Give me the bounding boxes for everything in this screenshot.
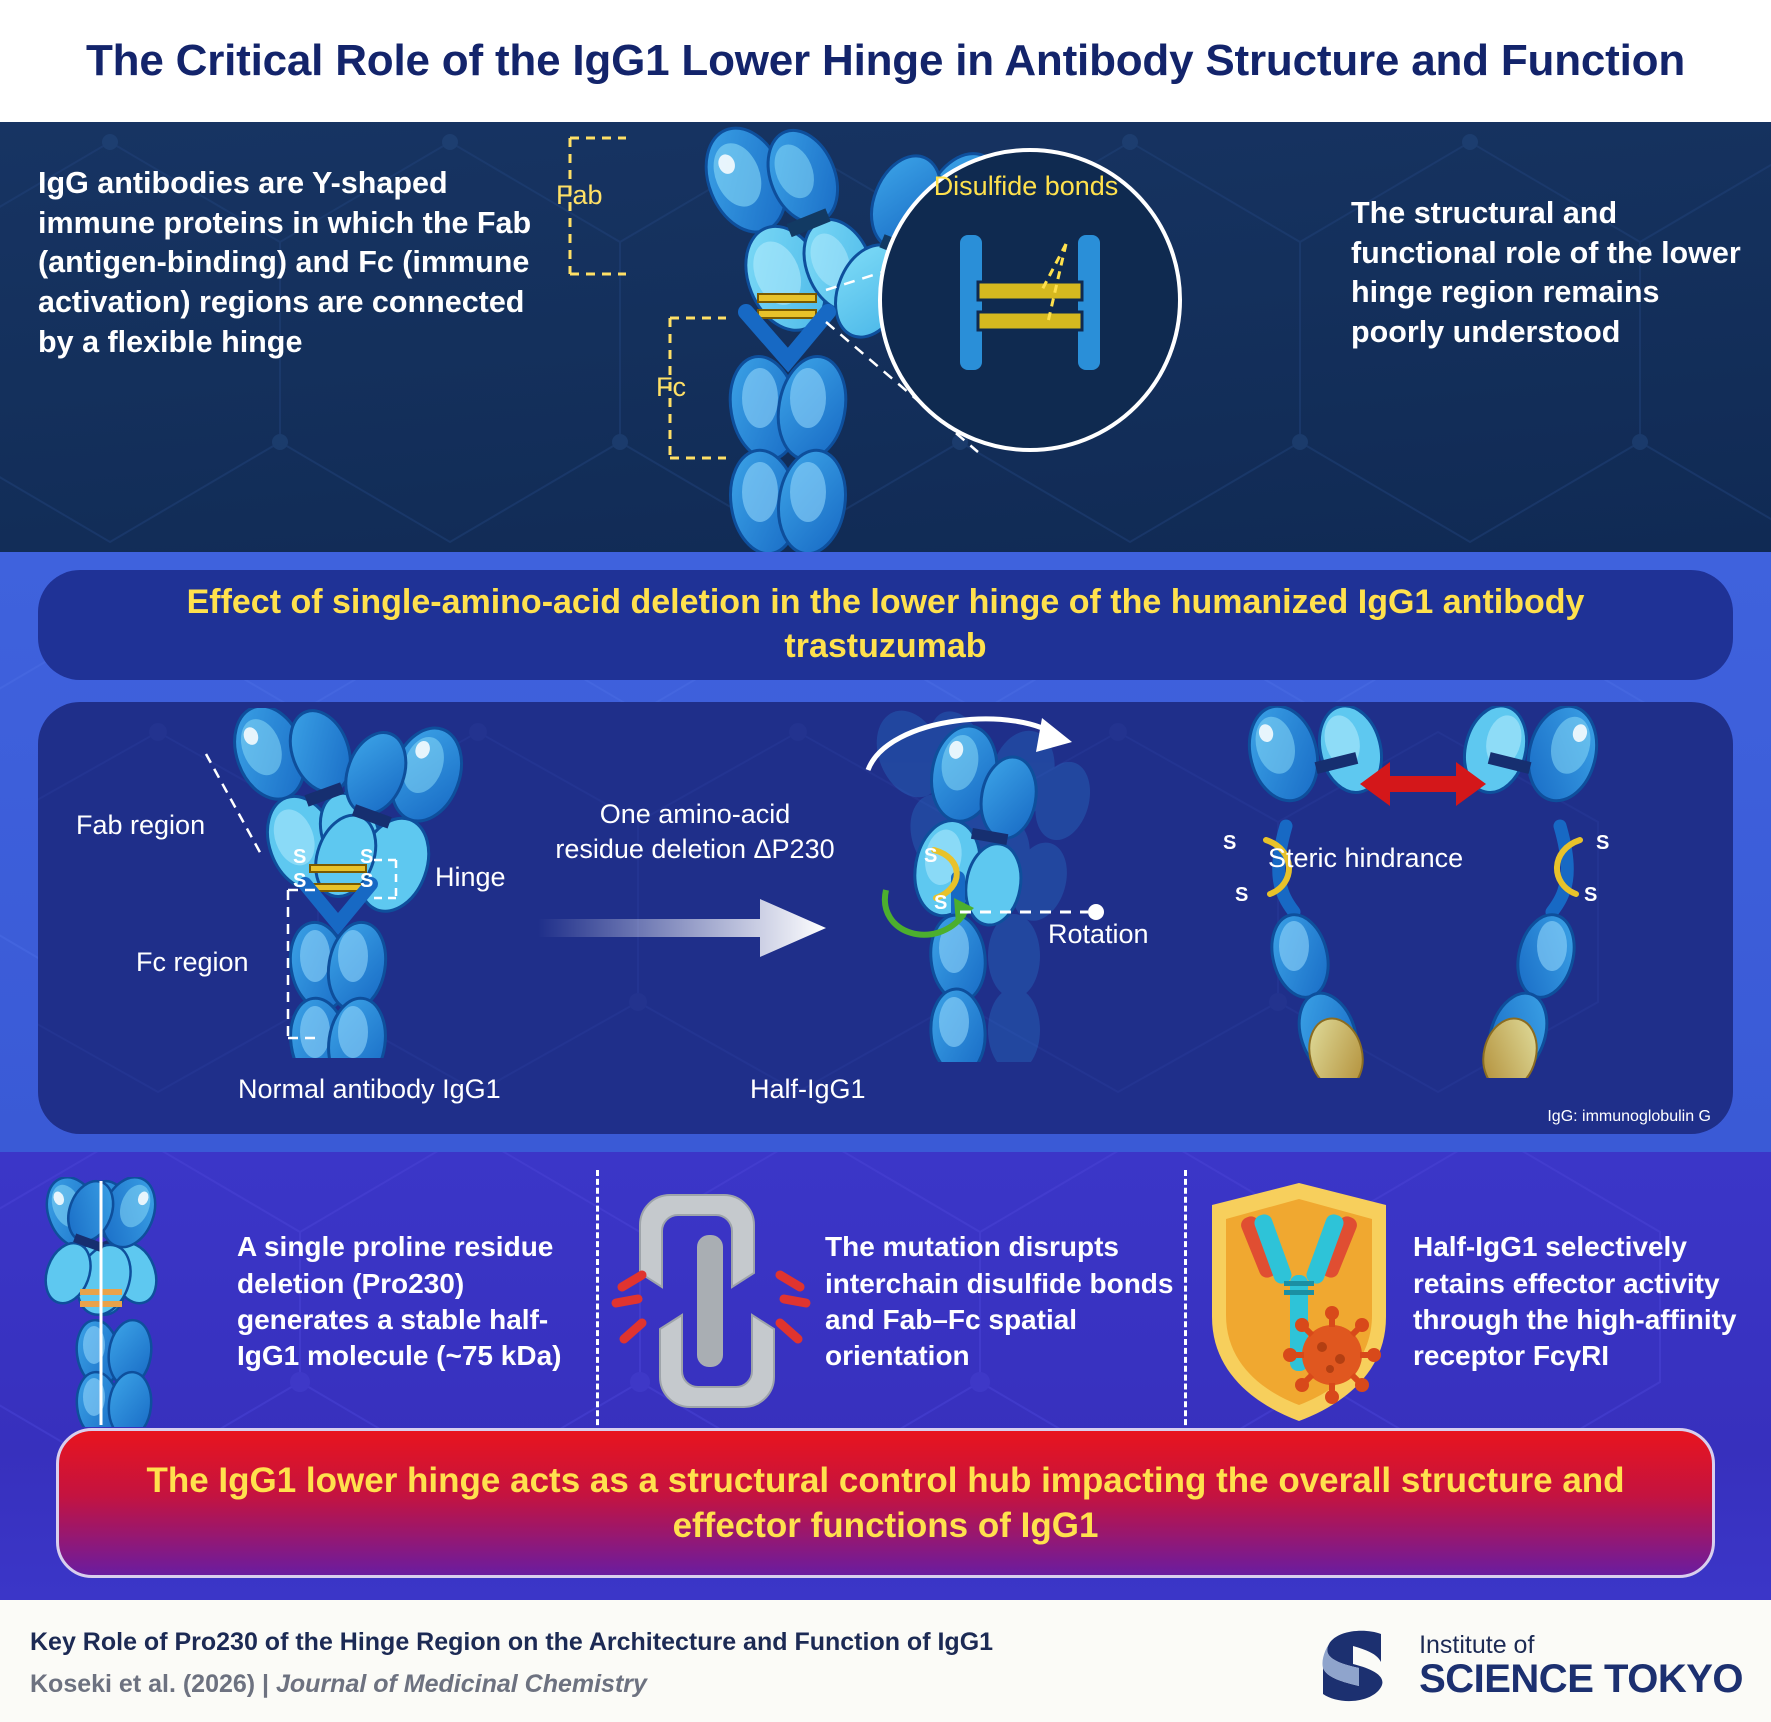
institute-logo: Institute of SCIENCE TOKYO <box>1307 1620 1743 1712</box>
process-band: Effect of single-amino-acid deletion in … <box>0 552 1771 1152</box>
s-tag-steric-r1: S <box>1596 832 1609 855</box>
normal-antibody-caption: Normal antibody IgG1 <box>238 1074 501 1105</box>
finding-card-3-text: Half-IgG1 selectively retains effector a… <box>1407 1229 1764 1375</box>
process-panel: S S S S Fab region Fc region Hinge Norma… <box>38 702 1733 1134</box>
s-tag-left-top: S <box>293 846 306 869</box>
s-tag-right-top: S <box>360 846 373 869</box>
transition-arrow-icon <box>538 897 828 959</box>
citation: Koseki et al. (2026) | Journal of Medici… <box>30 1670 647 1699</box>
s-tag-half-top: S <box>924 845 937 868</box>
headline-banner: Effect of single-amino-acid deletion in … <box>38 570 1733 680</box>
conclusion-banner: The IgG1 lower hinge acts as a structura… <box>56 1428 1715 1578</box>
science-tokyo-s-mark-icon <box>1307 1620 1403 1712</box>
fab-region-label: Fab region <box>76 810 205 841</box>
intro-right-text: The structural and functional role of th… <box>1351 194 1741 353</box>
citation-authors: Koseki et al. (2026) | <box>30 1670 276 1698</box>
s-tag-half-bottom: S <box>934 892 947 915</box>
fc-region-label: Fc region <box>136 947 249 978</box>
rotation-label: Rotation <box>1048 919 1149 950</box>
card-divider-1 <box>596 1170 599 1434</box>
logo-line-1: Institute of <box>1419 1632 1743 1658</box>
steric-hindrance-label: Steric hindrance <box>1268 842 1458 876</box>
broken-chain-link-icon <box>604 1177 819 1427</box>
footer: Key Role of Pro230 of the Hinge Region o… <box>0 1600 1771 1722</box>
deletion-annotation: One amino-acid residue deletion ΔP230 <box>555 797 835 867</box>
intro-band: IgG antibodies are Y-shaped immune prote… <box>0 122 1771 552</box>
s-tag-steric-l1: S <box>1223 832 1236 855</box>
finding-card-2: The mutation disrupts interchain disulfi… <box>604 1152 1176 1452</box>
steric-hindrance-icon <box>1208 706 1638 1078</box>
fc-label: Fc <box>656 372 686 403</box>
finding-card-1-text: A single proline residue deletion (Pro23… <box>231 1229 588 1375</box>
finding-card-3: Half-IgG1 selectively retains effector a… <box>1192 1152 1764 1452</box>
half-antibody-icon <box>16 1177 231 1427</box>
hinge-label: Hinge <box>435 862 506 893</box>
headline-text: Effect of single-amino-acid deletion in … <box>38 581 1733 668</box>
s-tag-steric-l2: S <box>1235 884 1248 907</box>
s-tag-steric-r2: S <box>1584 884 1597 907</box>
intro-left-text: IgG antibodies are Y-shaped immune prote… <box>38 164 538 362</box>
page-title: The Critical Role of the IgG1 Lower Hing… <box>86 35 1685 87</box>
key-findings-band: A single proline residue deletion (Pro23… <box>0 1152 1771 1452</box>
page-title-band: The Critical Role of the IgG1 Lower Hing… <box>0 0 1771 122</box>
conclusion-text: The IgG1 lower hinge acts as a structura… <box>59 1458 1712 1549</box>
s-tag-right-bottom: S <box>360 870 373 893</box>
citation-journal: Journal of Medicinal Chemistry <box>276 1670 647 1698</box>
finding-card-1: A single proline residue deletion (Pro23… <box>16 1152 588 1452</box>
disulfide-bonds-label: Disulfide bonds <box>926 170 1126 202</box>
half-antibody-caption: Half-IgG1 <box>750 1074 866 1105</box>
s-tag-left-bottom: S <box>293 870 306 893</box>
paper-title: Key Role of Pro230 of the Hinge Region o… <box>30 1628 993 1657</box>
finding-card-2-text: The mutation disrupts interchain disulfi… <box>819 1229 1176 1375</box>
conclusion-band: The IgG1 lower hinge acts as a structura… <box>0 1452 1771 1600</box>
igg-footnote: IgG: immunoglobulin G <box>1547 1108 1711 1126</box>
card-divider-2 <box>1184 1170 1187 1434</box>
shield-antibody-virus-icon <box>1192 1177 1407 1427</box>
half-antibody-rotation-icon <box>828 702 1158 1062</box>
logo-line-2: SCIENCE TOKYO <box>1419 1658 1743 1700</box>
fab-label: Fab <box>556 180 603 211</box>
